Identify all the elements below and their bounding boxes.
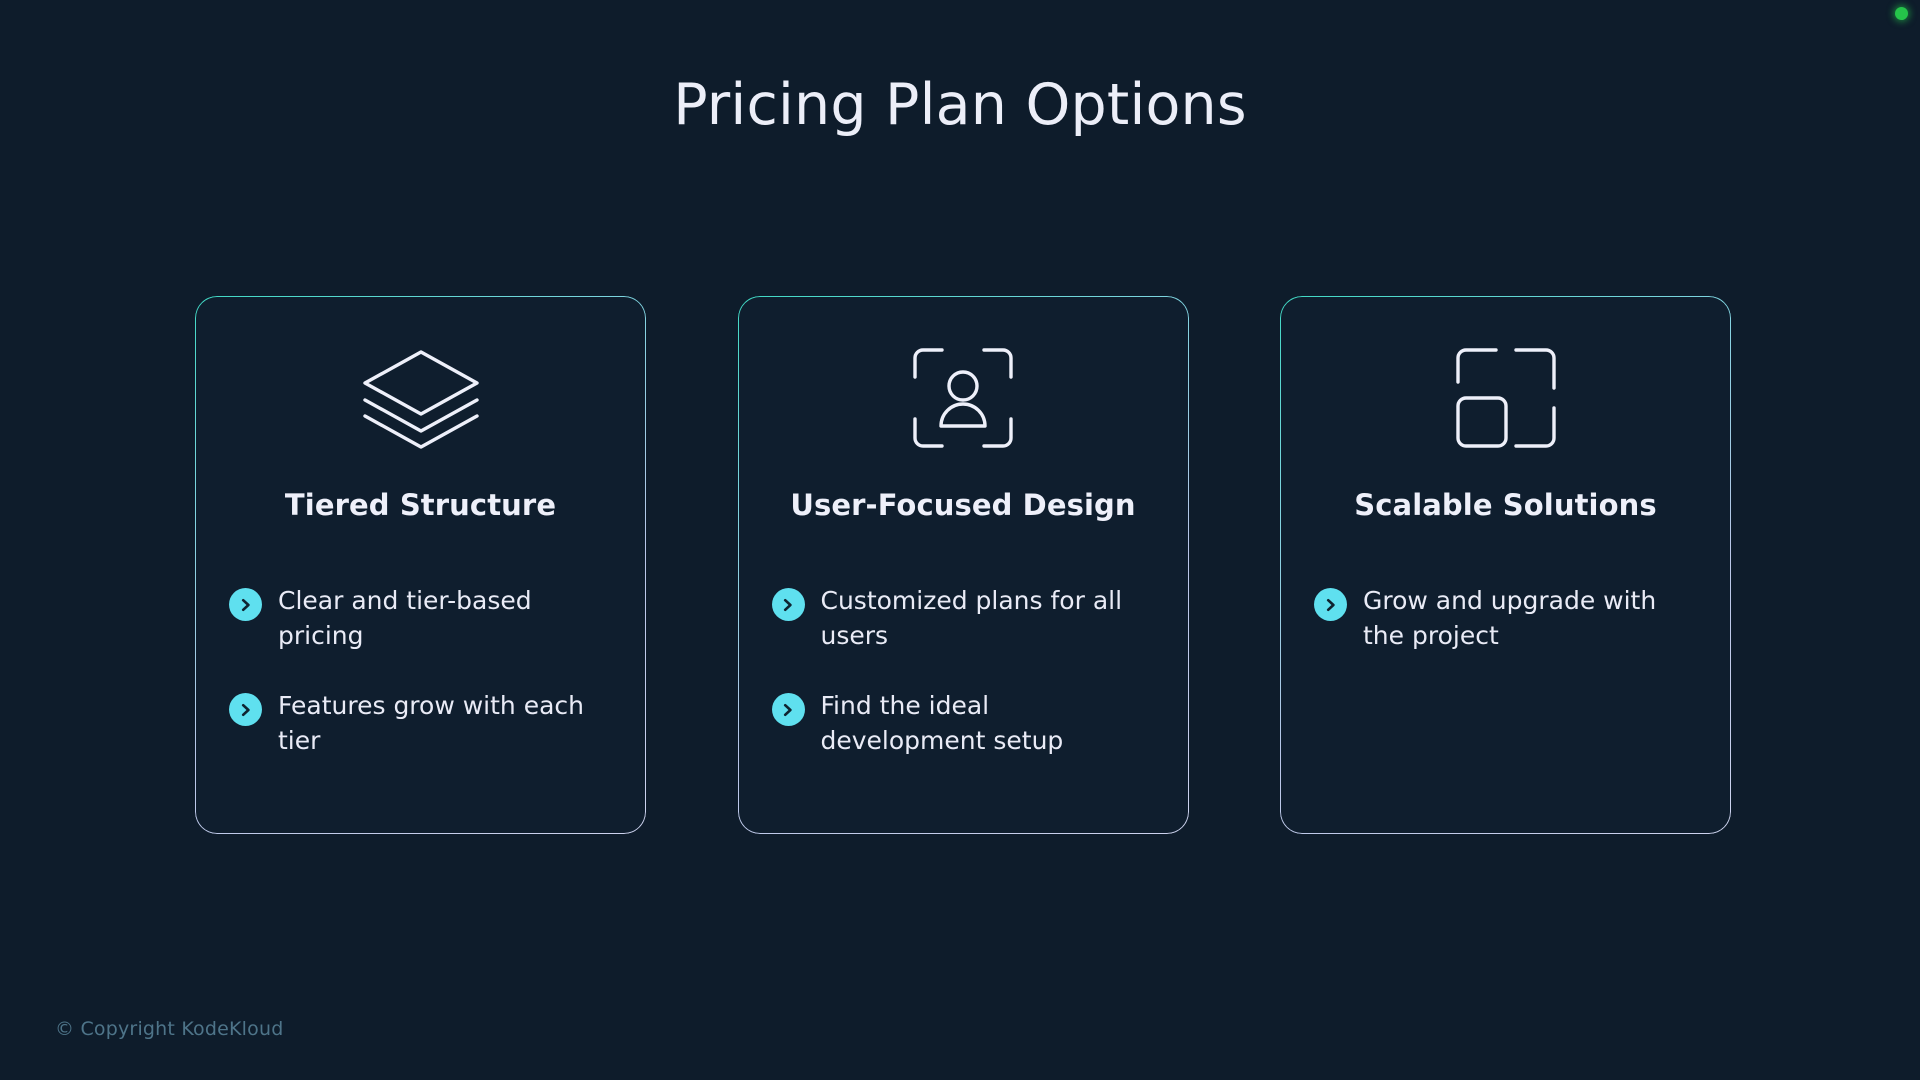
pricing-card-list: Tiered Structure Clear and tier-based pr… bbox=[195, 296, 1731, 834]
chevron-right-circle-icon bbox=[772, 588, 805, 621]
chevron-right-circle-icon bbox=[229, 588, 262, 621]
card-bullet-list: Clear and tier-based pricing Features gr… bbox=[229, 584, 612, 758]
bullet-text: Grow and upgrade with the project bbox=[1363, 584, 1697, 653]
page-title: Pricing Plan Options bbox=[0, 72, 1920, 138]
bullet-text: Customized plans for all users bbox=[821, 584, 1155, 653]
list-item: Find the ideal development setup bbox=[772, 689, 1155, 758]
chevron-right-circle-icon bbox=[1314, 588, 1347, 621]
copyright-footer: © Copyright KodeKloud bbox=[55, 1018, 283, 1040]
bullet-text: Features grow with each tier bbox=[278, 689, 612, 758]
pricing-card-user-focused-design[interactable]: User-Focused Design Customized plans for… bbox=[738, 296, 1189, 834]
list-item: Customized plans for all users bbox=[772, 584, 1155, 653]
list-item: Grow and upgrade with the project bbox=[1314, 584, 1697, 653]
pricing-card-scalable-solutions[interactable]: Scalable Solutions Grow and upgrade with… bbox=[1280, 296, 1731, 834]
slide-root: Pricing Plan Options Tiered Structure bbox=[0, 0, 1920, 1080]
list-item: Features grow with each tier bbox=[229, 689, 612, 758]
status-indicator-dot bbox=[1895, 7, 1908, 20]
card-bullet-list: Grow and upgrade with the project bbox=[1314, 584, 1697, 653]
chevron-right-circle-icon bbox=[772, 693, 805, 726]
chevron-right-circle-icon bbox=[229, 693, 262, 726]
bullet-text: Clear and tier-based pricing bbox=[278, 584, 612, 653]
card-title: Tiered Structure bbox=[229, 488, 612, 522]
card-title: Scalable Solutions bbox=[1314, 488, 1697, 522]
scale-frame-icon bbox=[1314, 342, 1697, 454]
pricing-card-tiered-structure[interactable]: Tiered Structure Clear and tier-based pr… bbox=[195, 296, 646, 834]
user-focus-icon bbox=[772, 342, 1155, 454]
list-item: Clear and tier-based pricing bbox=[229, 584, 612, 653]
card-title: User-Focused Design bbox=[772, 488, 1155, 522]
layers-icon bbox=[229, 342, 612, 454]
card-bullet-list: Customized plans for all users Find the … bbox=[772, 584, 1155, 758]
bullet-text: Find the ideal development setup bbox=[821, 689, 1155, 758]
